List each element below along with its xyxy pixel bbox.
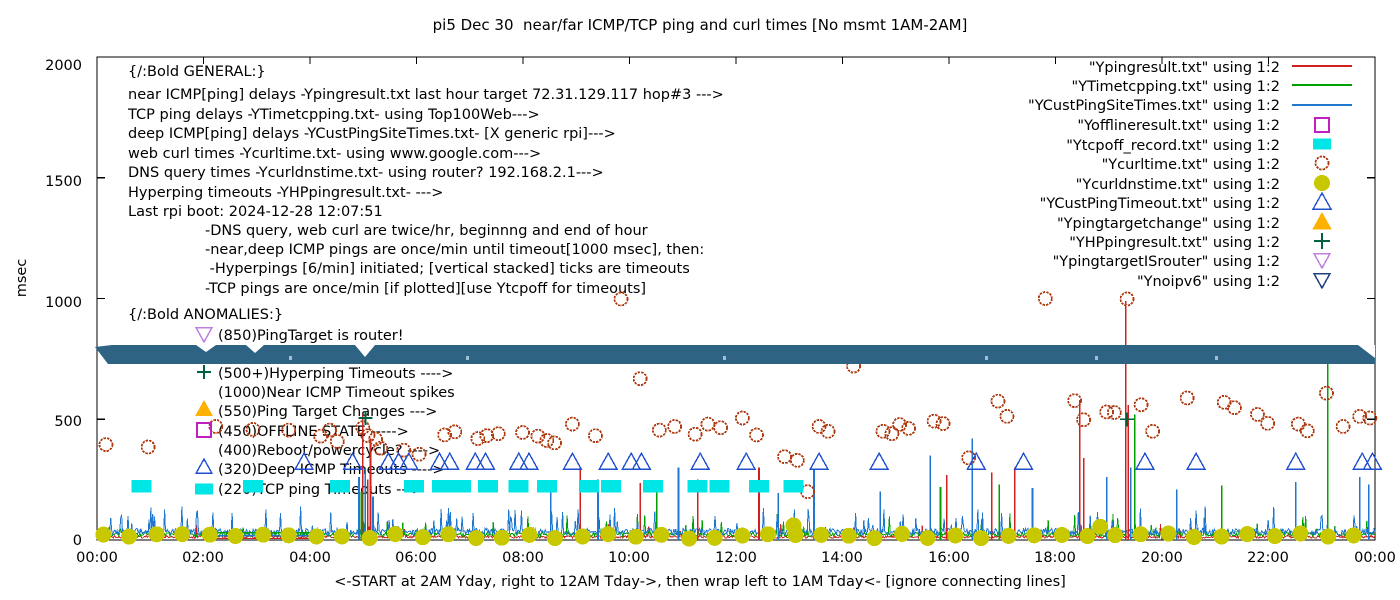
teal-overlay-band — [0, 0, 1400, 600]
ping-times-chart: pi5 Dec 30 near/far ICMP/TCP ping and cu… — [0, 0, 1400, 600]
